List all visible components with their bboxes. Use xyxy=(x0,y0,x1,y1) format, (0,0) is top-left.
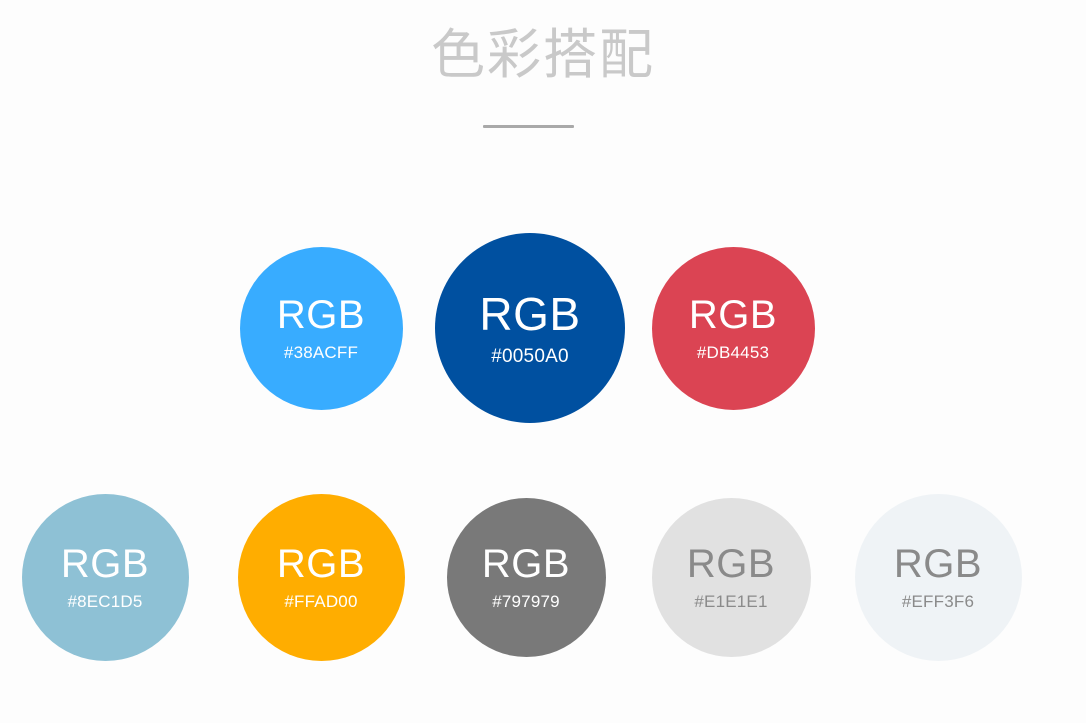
rgb-label: RGB xyxy=(894,543,982,585)
rgb-label: RGB xyxy=(482,543,570,585)
hex-label: #8EC1D5 xyxy=(67,592,142,611)
hex-label: #DB4453 xyxy=(697,343,769,362)
title-divider xyxy=(483,125,574,128)
swatch-ffad00[interactable]: RGB#FFAD00 xyxy=(238,494,405,661)
hex-label: #38ACFF xyxy=(284,343,358,362)
page-title: 色彩搭配 xyxy=(0,20,1086,90)
swatch-0050a0[interactable]: RGB#0050A0 xyxy=(435,233,625,423)
swatch-8ec1d5[interactable]: RGB#8EC1D5 xyxy=(22,494,189,661)
rgb-label: RGB xyxy=(479,290,580,338)
swatch-eff3f6[interactable]: RGB#EFF3F6 xyxy=(855,494,1022,661)
hex-label: #E1E1E1 xyxy=(694,592,767,611)
hex-label: #797979 xyxy=(492,592,560,611)
color-palette-page: 色彩搭配 RGB#38ACFFRGB#0050A0RGB#DB4453RGB#8… xyxy=(0,0,1086,723)
rgb-label: RGB xyxy=(277,543,365,585)
swatch-797979[interactable]: RGB#797979 xyxy=(447,498,606,657)
rgb-label: RGB xyxy=(61,543,149,585)
rgb-label: RGB xyxy=(277,294,365,336)
rgb-label: RGB xyxy=(687,543,775,585)
hex-label: #FFAD00 xyxy=(284,592,357,611)
swatch-38acff[interactable]: RGB#38ACFF xyxy=(240,247,403,410)
hex-label: #EFF3F6 xyxy=(902,592,974,611)
rgb-label: RGB xyxy=(689,294,777,336)
swatch-e1e1e1[interactable]: RGB#E1E1E1 xyxy=(652,498,811,657)
swatch-db4453[interactable]: RGB#DB4453 xyxy=(652,247,815,410)
hex-label: #0050A0 xyxy=(491,346,568,367)
